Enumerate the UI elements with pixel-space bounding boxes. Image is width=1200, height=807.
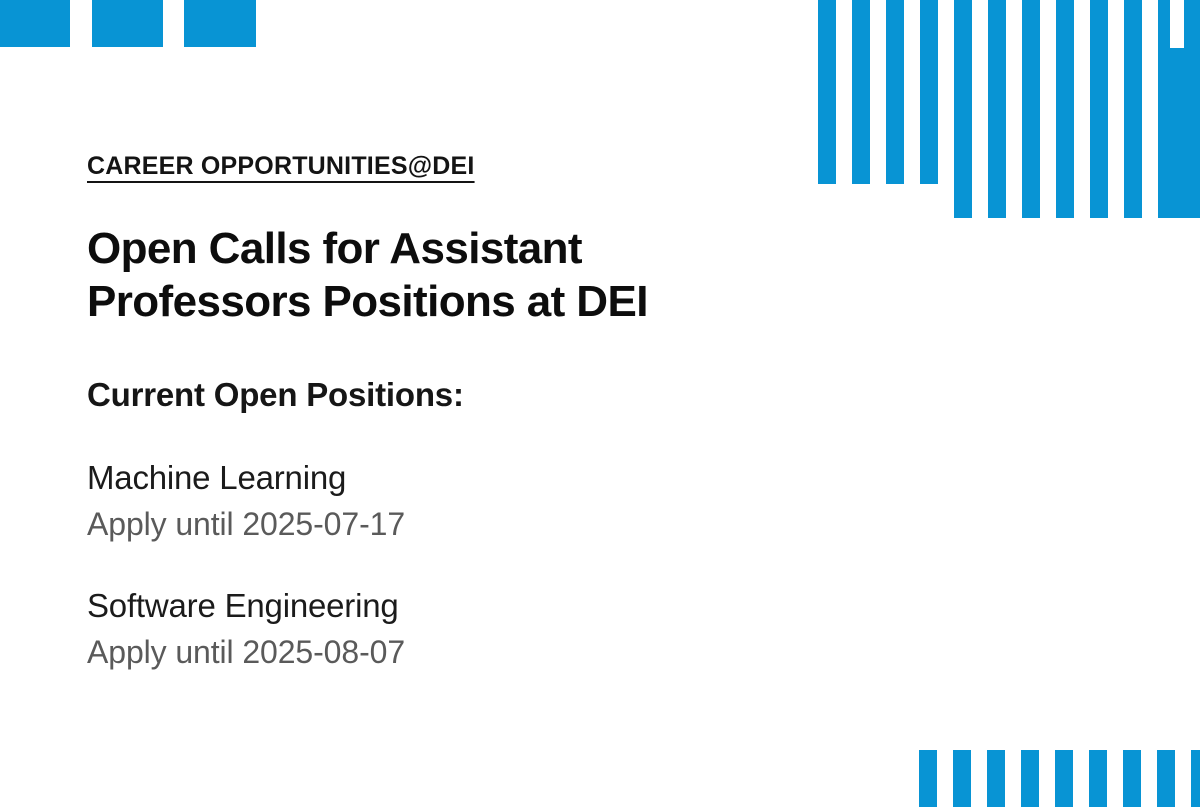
position-entry: Machine LearningApply until 2025-07-17 (87, 458, 787, 543)
bar-top-left-1 (92, 0, 163, 47)
position-title: Machine Learning (87, 458, 787, 498)
eyebrow-label: CAREER OPPORTUNITIES@DEI (87, 152, 787, 181)
position-deadline: Apply until 2025-08-07 (87, 633, 787, 671)
career-opportunities-poster: CAREER OPPORTUNITIES@DEI Open Calls for … (0, 0, 1200, 807)
bar-bottom-right-4 (1055, 750, 1073, 807)
bar-bottom-right-6 (1123, 750, 1141, 807)
decorative-bars-top-left (0, 0, 260, 48)
bar-bottom-right-5 (1089, 750, 1107, 807)
bar-top-right-3 (920, 0, 938, 184)
open-positions-list: Machine LearningApply until 2025-07-17So… (87, 458, 787, 671)
bar-bottom-right-7 (1157, 750, 1175, 807)
bar-top-right-0 (818, 0, 836, 184)
bar-bottom-right-8 (1191, 750, 1200, 807)
bar-top-left-0 (0, 0, 70, 47)
bar-top-right-2 (886, 0, 904, 184)
decorative-bars-top-right (810, 0, 1200, 220)
bar-top-right-7 (1056, 0, 1074, 218)
poster-content: CAREER OPPORTUNITIES@DEI Open Calls for … (87, 152, 787, 671)
bar-top-right-8 (1090, 0, 1108, 218)
position-title: Software Engineering (87, 586, 787, 626)
page-title: Open Calls for Assistant Professors Posi… (87, 222, 727, 328)
bar-top-left-2 (184, 0, 256, 47)
bar-bottom-right-2 (987, 750, 1005, 807)
bar-top-right-5 (988, 0, 1006, 218)
decorative-bars-bottom-right (900, 750, 1200, 807)
bar-bottom-right-1 (953, 750, 971, 807)
position-entry: Software EngineeringApply until 2025-08-… (87, 586, 787, 671)
bar-top-right-4 (954, 0, 972, 218)
bar-bottom-right-0 (919, 750, 937, 807)
notch-top-right (1170, 0, 1184, 48)
bar-top-right-1 (852, 0, 870, 184)
bar-top-right-6 (1022, 0, 1040, 218)
position-deadline: Apply until 2025-07-17 (87, 505, 787, 543)
bar-top-right-9 (1124, 0, 1142, 218)
bar-bottom-right-3 (1021, 750, 1039, 807)
open-positions-heading: Current Open Positions: (87, 376, 787, 414)
